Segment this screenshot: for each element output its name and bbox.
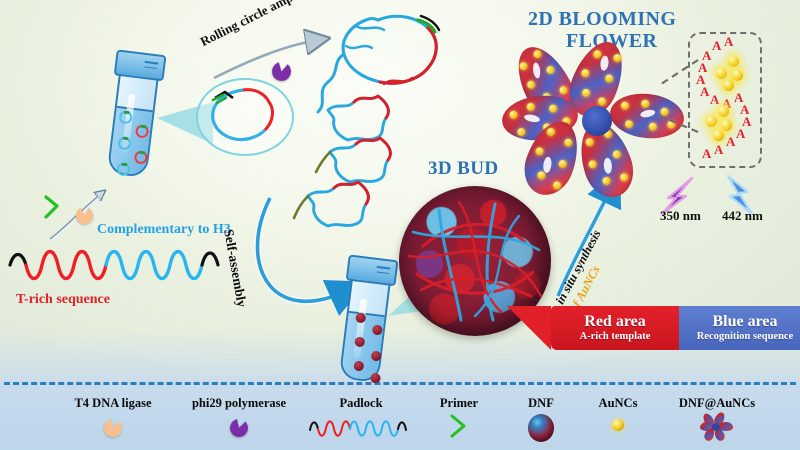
aunc-particle (706, 116, 717, 127)
blue-area-subtitle: Recognition sequence (697, 330, 794, 343)
legend-label: phi29 polymerase (178, 396, 300, 411)
aunc-callout-box: A A A A A A A A A A A A A A A (688, 32, 762, 168)
label-t-rich-sequence: T-rich sequence (16, 292, 110, 308)
label-emission-wavelength: 442 nm (722, 208, 763, 224)
label-3d-bud: 3D BUD (428, 158, 499, 180)
pacman-purple-icon (228, 417, 250, 439)
legend-divider (4, 382, 796, 385)
legend-item-t4-dna-ligase: T4 DNA ligase (58, 396, 168, 442)
a-letter: A (726, 134, 735, 150)
legend-item-phi29-polymerase: phi29 polymerase (178, 396, 300, 442)
tube1-padlock-rings (106, 105, 162, 182)
red-area-subtitle: A-rich template (580, 330, 651, 343)
label-2d-blooming-flower-line1: 2D BLOOMING (528, 8, 676, 31)
legend-item-dnf: DNF (508, 396, 574, 443)
legend-label: DNF (508, 396, 574, 411)
aunc-particle (721, 120, 732, 131)
aunc-particle (718, 106, 729, 117)
legend-item-dnf-auncs: DNF@AuNCs (658, 396, 776, 442)
aunc-particle (732, 70, 743, 81)
wave-strand-icon (306, 414, 416, 438)
flower-icon (702, 413, 732, 441)
aunc-particle (728, 56, 739, 67)
a-letter: A (736, 126, 745, 142)
red-area-title: Red area (584, 314, 645, 330)
aunc-particle (716, 68, 727, 79)
legend-label: DNF@AuNCs (658, 396, 776, 411)
legend-item-padlock: Padlock (306, 396, 416, 440)
legend-item-primer: Primer (420, 396, 498, 440)
green-zigzag-icon (420, 414, 498, 438)
aunc-particle (713, 130, 724, 141)
ribbon-tail (507, 306, 551, 350)
aunc-particle (723, 80, 734, 91)
circular-padlock-icon (203, 84, 285, 148)
a-letter: A (710, 92, 719, 108)
legend-label: T4 DNA ligase (58, 396, 168, 411)
red-area-half: Red area A-rich template (551, 306, 679, 350)
arrow-rolling-circle (212, 32, 332, 84)
a-letter: A (702, 146, 711, 162)
gold-dot-icon (612, 419, 624, 431)
padlock-linear-strand (8, 243, 223, 289)
a-letter: A (714, 142, 723, 158)
area-legend-banner: Red area A-rich template Blue area Recog… (551, 306, 800, 350)
legend-label: Padlock (306, 396, 416, 411)
legend-label: AuNCs (580, 396, 656, 411)
a-letter: A (724, 34, 733, 50)
a-letter: A (700, 84, 709, 100)
blue-area-title: Blue area (712, 314, 777, 330)
figure-canvas: T-rich sequence Complementary to H3 (0, 0, 800, 450)
legend-item-auncs: AuNCs (580, 396, 656, 443)
legend-label: Primer (420, 396, 498, 411)
a-letter: A (712, 38, 721, 54)
pacman-peach-icon (102, 417, 124, 439)
dnf-sphere-icon (528, 414, 554, 442)
flower-center (582, 106, 612, 136)
t4-ligase-icon (76, 207, 93, 224)
label-excitation-wavelength: 350 nm (660, 208, 701, 224)
primer-icon-left (44, 195, 62, 221)
blue-area-half: Blue area Recognition sequence (679, 306, 800, 350)
